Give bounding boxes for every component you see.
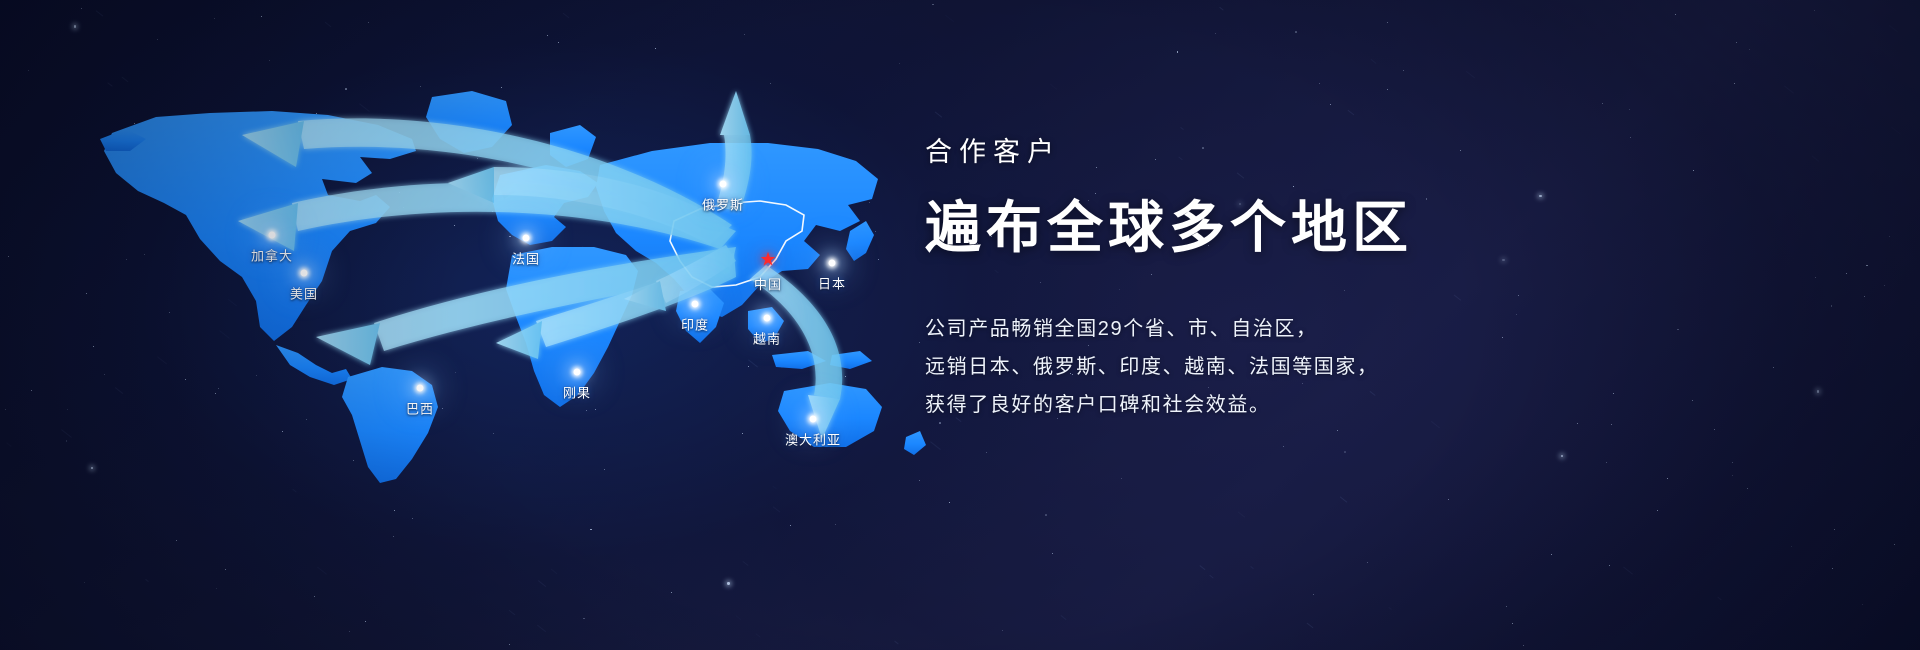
star-speck xyxy=(412,518,413,519)
star-speck xyxy=(8,256,9,257)
star-speck xyxy=(1667,478,1668,479)
star-speck xyxy=(1675,14,1676,15)
marker-dot-icon xyxy=(417,385,424,392)
star-speck xyxy=(1512,623,1513,624)
dust-streak xyxy=(944,15,954,23)
star-speck xyxy=(1834,529,1835,530)
star-speck xyxy=(1814,10,1815,11)
star-speck xyxy=(1714,429,1715,430)
dust-streak xyxy=(1060,615,1066,620)
dust-streak xyxy=(755,634,761,639)
dust-streak xyxy=(1388,607,1392,610)
star-speck xyxy=(1403,70,1404,71)
star-speck xyxy=(1846,273,1847,274)
star-speck xyxy=(31,390,32,391)
star-speck xyxy=(1337,430,1338,431)
dust-streak xyxy=(1237,511,1244,517)
dust-streak xyxy=(316,567,326,575)
panel-paragraph: 公司产品畅销全国29个省、市、自治区， 远销日本、俄罗斯、印度、越南、法国等国家… xyxy=(925,310,1825,424)
city-marker-label: 巴西 xyxy=(406,399,434,418)
star-speck xyxy=(583,618,585,620)
dust-streak xyxy=(537,625,547,633)
city-marker-vietnam[interactable]: 越南 xyxy=(764,315,771,322)
star-speck xyxy=(5,409,6,410)
star-speck xyxy=(1732,475,1733,476)
star-speck xyxy=(1344,451,1346,453)
city-marker-canada[interactable]: 加拿大 xyxy=(269,232,276,239)
star-speck xyxy=(1866,265,1868,267)
star-speck xyxy=(1749,49,1750,50)
city-marker-label: 刚果 xyxy=(563,383,591,402)
star-speck xyxy=(1121,478,1122,479)
star-speck xyxy=(368,22,369,23)
paragraph-line-3: 获得了良好的客户口碑和社会效益。 xyxy=(925,386,1825,424)
city-marker-russia[interactable]: 俄罗斯 xyxy=(720,181,727,188)
star-speck xyxy=(1506,606,1507,607)
marker-dot-icon xyxy=(720,181,727,188)
star-speck xyxy=(1283,446,1284,447)
city-marker-label: 日本 xyxy=(818,274,846,293)
star-speck xyxy=(1045,514,1047,516)
star-speck xyxy=(1367,562,1368,563)
city-marker-label: 加拿大 xyxy=(251,246,293,265)
city-marker-label: 越南 xyxy=(753,329,781,348)
city-marker-label: 中国 xyxy=(754,274,782,293)
paragraph-line-2: 远销日本、俄罗斯、印度、越南、法国等国家， xyxy=(925,348,1825,386)
dust-streak xyxy=(563,13,570,19)
city-marker-india[interactable]: 印度 xyxy=(692,301,699,308)
world-map: 加拿大美国巴西法国刚果俄罗斯印度★中国越南日本澳大利亚 xyxy=(60,55,940,485)
dust-streak xyxy=(743,561,749,566)
marker-dot-icon xyxy=(301,270,308,277)
star-speck xyxy=(1052,553,1053,554)
paragraph-line-1: 公司产品畅销全国29个省、市、自治区， xyxy=(925,310,1825,348)
star-speck xyxy=(214,18,215,19)
dust-streak xyxy=(509,610,516,616)
star-speck xyxy=(671,592,672,593)
star-speck xyxy=(1561,455,1563,457)
star-speck xyxy=(1330,104,1331,105)
marker-dot-icon xyxy=(810,416,817,423)
star-speck xyxy=(261,16,262,17)
city-marker-label: 美国 xyxy=(290,284,318,303)
dust-streak xyxy=(1466,71,1475,78)
city-marker-label: 俄罗斯 xyxy=(702,195,744,214)
star-speck xyxy=(1884,285,1885,286)
star-speck xyxy=(1319,83,1320,84)
star-speck xyxy=(393,536,394,537)
dust-streak xyxy=(1347,110,1354,116)
city-marker-congo[interactable]: 刚果 xyxy=(574,369,581,376)
star-speck xyxy=(655,48,656,49)
city-marker-label: 法国 xyxy=(512,249,540,268)
star-speck xyxy=(28,70,29,71)
star-speck xyxy=(1606,462,1607,463)
star-speck xyxy=(1602,103,1603,104)
dust-streak xyxy=(1339,496,1347,502)
dust-streak xyxy=(1220,6,1224,10)
star-speck xyxy=(1864,296,1865,297)
dust-streak xyxy=(1049,84,1056,90)
dust-streak xyxy=(1200,565,1206,570)
star-speck xyxy=(986,452,987,453)
city-marker-japan[interactable]: 日本 xyxy=(829,260,836,267)
marker-dot-icon xyxy=(523,235,530,242)
marker-dot-icon xyxy=(269,232,276,239)
star-speck xyxy=(176,540,177,541)
dust-streak xyxy=(1210,574,1214,578)
panel-eyebrow: 合作客户 xyxy=(925,130,1825,169)
star-speck xyxy=(1177,51,1179,53)
star-speck xyxy=(349,631,350,632)
marker-dot-icon xyxy=(829,260,836,267)
star-speck xyxy=(1791,546,1792,547)
star-speck xyxy=(157,39,158,40)
dust-streak xyxy=(96,10,104,16)
star-speck xyxy=(1551,554,1552,555)
hero-banner: 加拿大美国巴西法国刚果俄罗斯印度★中国越南日本澳大利亚 合作客户 遍布全球多个地… xyxy=(0,0,1920,650)
star-speck xyxy=(1894,544,1895,545)
dust-streak xyxy=(1717,597,1722,601)
star-speck xyxy=(1736,42,1737,43)
star-speck xyxy=(1295,31,1297,33)
dust-streak xyxy=(1623,566,1633,574)
china-star-icon: ★ xyxy=(759,251,776,270)
city-marker-label: 印度 xyxy=(681,315,709,334)
star-speck xyxy=(1387,22,1388,23)
star-speck xyxy=(1862,604,1863,605)
dust-streak xyxy=(735,615,741,620)
star-speck xyxy=(1734,83,1735,84)
star-speck xyxy=(1889,236,1890,237)
star-speck xyxy=(558,42,559,43)
city-marker-france[interactable]: 法国 xyxy=(523,235,530,242)
text-panel: 合作客户 遍布全球多个地区 公司产品畅销全国29个省、市、自治区， 远销日本、俄… xyxy=(925,130,1825,424)
star-speck xyxy=(1448,499,1449,500)
star-speck xyxy=(81,8,83,10)
star-speck xyxy=(590,529,592,531)
city-marker-label: 澳大利亚 xyxy=(785,430,841,449)
star-speck xyxy=(509,644,510,645)
star-speck xyxy=(744,34,745,35)
city-marker-australia[interactable]: 澳大利亚 xyxy=(810,416,817,423)
panel-headline: 遍布全球多个地区 xyxy=(925,183,1825,264)
dust-streak xyxy=(1889,25,1898,32)
dust-streak xyxy=(1784,86,1794,94)
dust-streak xyxy=(894,640,898,644)
star-speck xyxy=(547,35,548,36)
world-map-svg xyxy=(60,55,940,485)
dust-streak xyxy=(145,579,149,582)
star-speck xyxy=(1609,565,1610,566)
dust-streak xyxy=(1891,126,1901,134)
star-speck xyxy=(84,582,85,583)
dust-streak xyxy=(6,443,11,447)
star-speck xyxy=(1832,568,1833,569)
star-speck xyxy=(1657,510,1658,511)
dust-streak xyxy=(1370,59,1376,64)
star-speck xyxy=(1215,33,1216,34)
dust-streak xyxy=(292,489,296,493)
star-speck xyxy=(1523,645,1524,646)
city-marker-usa[interactable]: 美国 xyxy=(301,270,308,277)
star-speck xyxy=(835,524,836,525)
star-speck xyxy=(1732,462,1733,463)
dust-streak xyxy=(1306,622,1313,628)
marker-dot-icon xyxy=(764,315,771,322)
star-speck xyxy=(727,582,729,584)
star-speck xyxy=(1629,109,1630,110)
star-speck xyxy=(1747,488,1748,489)
star-speck xyxy=(314,596,315,597)
star-speck xyxy=(394,510,395,511)
dust-streak xyxy=(1250,565,1254,568)
star-speck xyxy=(216,588,217,589)
star-speck xyxy=(949,502,950,503)
star-speck xyxy=(790,525,791,526)
dust-streak xyxy=(773,506,781,512)
star-speck xyxy=(74,25,76,27)
star-speck xyxy=(1831,305,1833,307)
dust-streak xyxy=(772,486,777,490)
dust-streak xyxy=(538,580,546,587)
star-speck xyxy=(1387,89,1388,90)
star-speck xyxy=(365,621,366,622)
marker-dot-icon xyxy=(692,301,699,308)
city-marker-brazil[interactable]: 巴西 xyxy=(417,385,424,392)
star-speck xyxy=(1002,630,1003,631)
star-speck xyxy=(225,569,226,570)
dust-streak xyxy=(551,568,558,574)
dust-streak xyxy=(324,21,331,27)
star-speck xyxy=(1313,594,1314,595)
marker-dot-icon xyxy=(574,369,581,376)
star-speck xyxy=(932,4,934,6)
